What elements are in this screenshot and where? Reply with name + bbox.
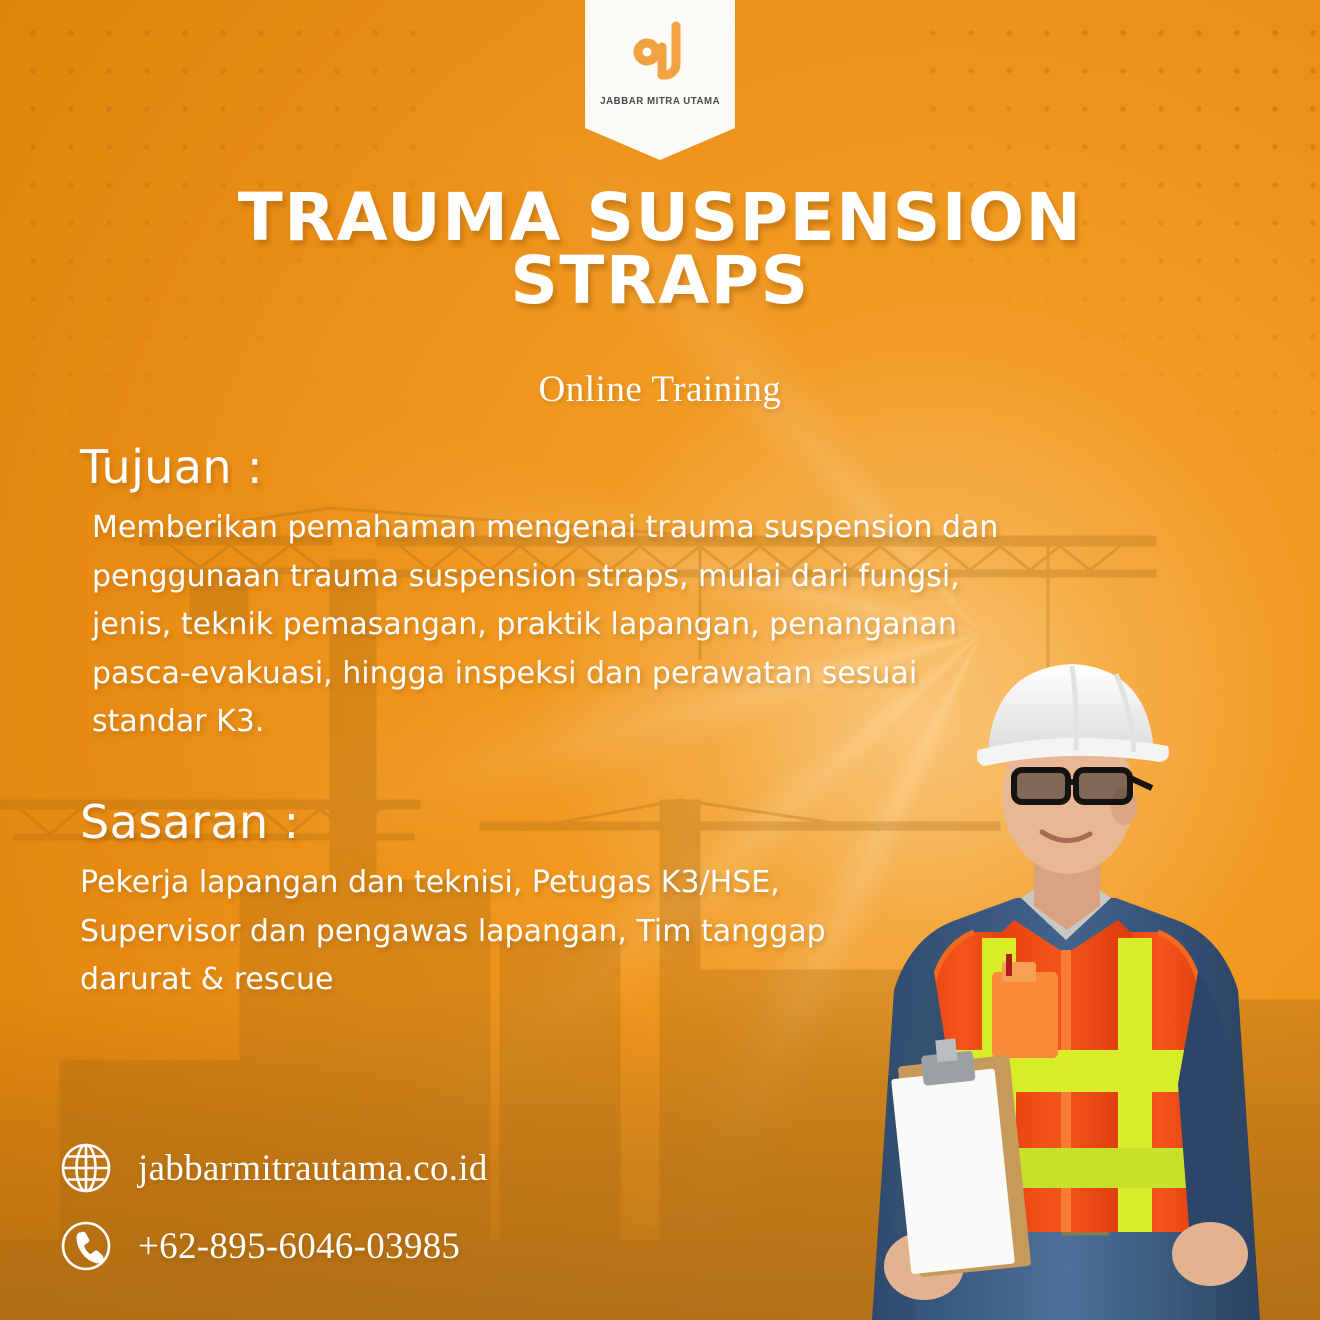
- page-title: TRAUMA SUSPENSION STRAPS: [0, 186, 1320, 313]
- website-text: jabbarmitrautama.co.id: [138, 1147, 488, 1190]
- phone-icon: [60, 1220, 112, 1272]
- section-sasaran-heading: Sasaran :: [80, 795, 840, 849]
- phone-text: +62-895-6046-03985: [138, 1225, 460, 1268]
- page-subtitle: Online Training: [0, 368, 1320, 411]
- section-tujuan: Tujuan : Memberikan pemahaman mengenai t…: [80, 440, 1005, 747]
- contact-phone-row[interactable]: +62-895-6046-03985: [60, 1220, 488, 1272]
- poster-canvas: JABBAR MITRA UTAMA TRAUMA SUSPENSION STR…: [0, 0, 1320, 1320]
- brand-logo-banner: JABBAR MITRA UTAMA: [585, 0, 735, 160]
- section-sasaran-body: Pekerja lapangan dan teknisi, Petugas K3…: [80, 859, 840, 1005]
- logo-wordmark: JABBAR MITRA UTAMA: [600, 95, 720, 107]
- section-tujuan-heading: Tujuan :: [80, 440, 1005, 494]
- jabbar-monogram-icon: [621, 14, 699, 92]
- section-sasaran: Sasaran : Pekerja lapangan dan teknisi, …: [80, 795, 840, 1005]
- section-tujuan-body: Memberikan pemahaman mengenai trauma sus…: [80, 504, 1005, 747]
- contact-website-row[interactable]: jabbarmitrautama.co.id: [60, 1142, 488, 1194]
- globe-icon: [60, 1142, 112, 1194]
- contact-block: jabbarmitrautama.co.id +62-895-6046-0398…: [60, 1142, 488, 1272]
